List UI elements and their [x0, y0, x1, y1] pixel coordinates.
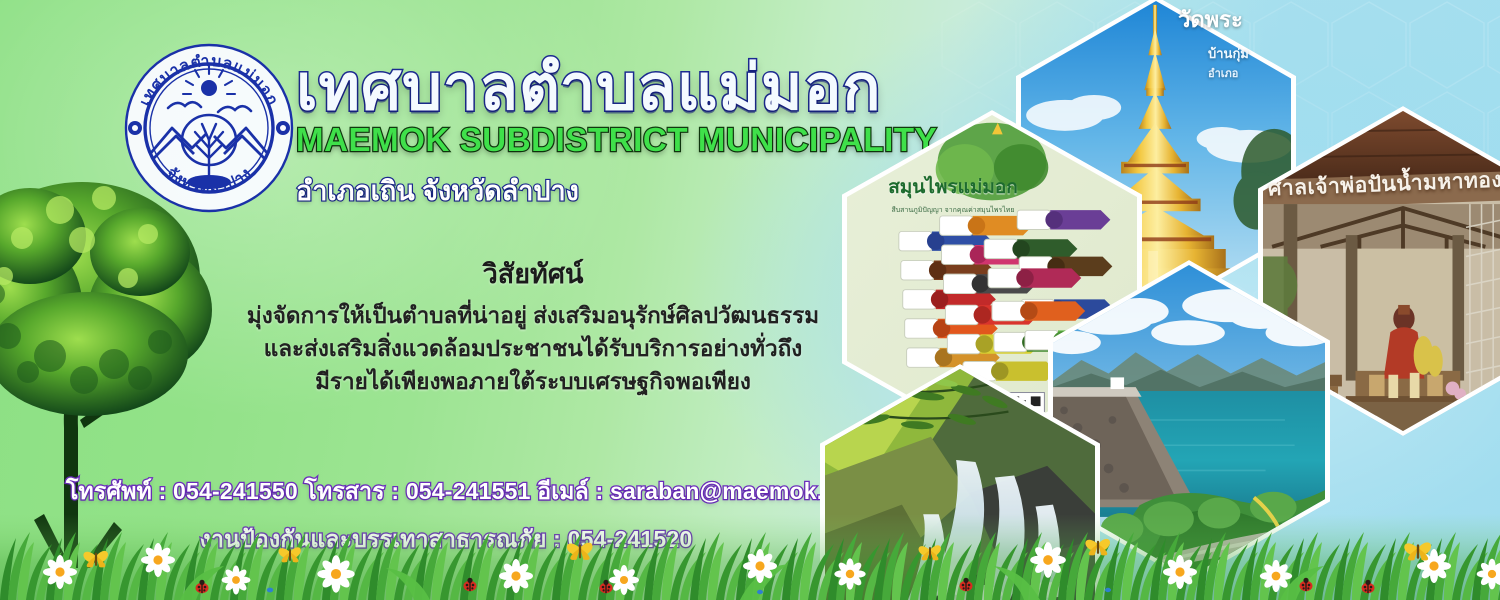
grass-flowers-footer: [0, 514, 1500, 600]
vision-line-1: มุ่งจัดการให้เป็นตำบลที่น่าอยู่ ส่งเสริม…: [238, 299, 828, 332]
vision-line-2: และส่งเสริมสิ่งแวดล้อมประชาชนได้รับบริกา…: [238, 332, 828, 365]
vision-heading: วิสัยทัศน์: [238, 252, 828, 295]
vision-line-3: มีรายได้เพียงพอภายใต้ระบบเศรษฐกิจพอเพียง: [238, 365, 828, 398]
hexagon-photo-collage: [780, 0, 1500, 588]
municipality-banner: เทศบาลตำบลแม่มอก จังหวัดลำปาง: [0, 0, 1500, 600]
contact-line-phone-fax-email[interactable]: โทรศัพท์ : 054-241550 โทรสาร : 054-24155…: [66, 474, 826, 510]
vision-statement: วิสัยทัศน์ มุ่งจัดการให้เป็นตำบลที่น่าอย…: [238, 252, 828, 398]
municipality-seal: เทศบาลตำบลแม่มอก จังหวัดลำปาง: [120, 36, 298, 218]
